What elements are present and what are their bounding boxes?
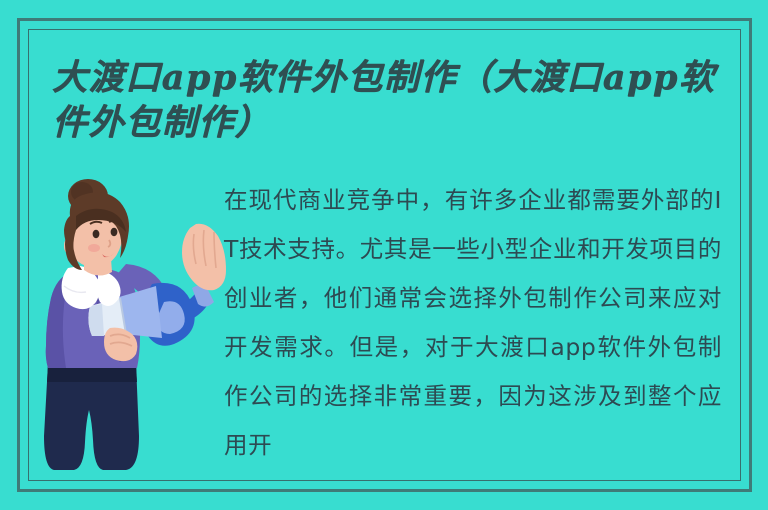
eye-right (111, 228, 118, 236)
raised-hand-shape (182, 224, 226, 291)
cheek-blush (88, 244, 100, 252)
page-title: 大渡口app软件外包制作（大渡口app软件外包制作） (52, 55, 742, 145)
pants-shape (44, 364, 139, 470)
article-body-text: 在现代商业竞争中，有许多企业都需要外部的IT技术支持。尤其是一些小型企业和开发项… (224, 176, 722, 470)
woman-with-megaphone-illustration (40, 186, 222, 474)
poster-canvas: 大渡口app软件外包制作（大渡口app软件外包制作） 在现代商业竞争中，有许多企… (0, 0, 768, 510)
eye-left (93, 230, 100, 238)
